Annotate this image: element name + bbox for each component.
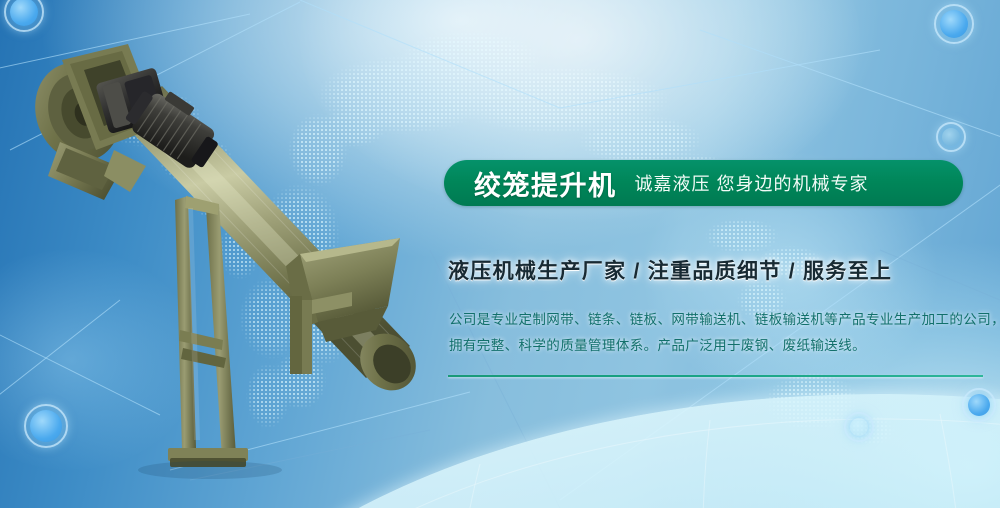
ring-marker-left-mid	[24, 404, 68, 448]
promo-banner: 绞笼提升机 诚嘉液压 您身边的机械专家 液压机械生产厂家 / 注重品质细节 / …	[0, 0, 1000, 508]
description-line-1: 公司是专业定制网带、链条、链板、网带输送机、链板输送机等产品专业生产加工的公司，	[449, 307, 989, 333]
globe-grid-lines	[150, 394, 1000, 508]
ring-marker-globe	[844, 412, 874, 442]
banner-slogan: 液压机械生产厂家 / 注重品质细节 / 服务至上	[448, 255, 989, 285]
banner-title: 绞笼提升机	[474, 164, 617, 203]
ring-marker-top-left	[4, 0, 44, 32]
banner-description: 公司是专业定制网带、链条、链板、网带输送机、链板输送机等产品专业生产加工的公司，…	[449, 307, 989, 359]
ring-marker-top-right	[934, 4, 974, 44]
description-line-2: 拥有完整、科学的质量管理体系。产品广泛用于废钢、废纸输送线。	[449, 333, 989, 359]
product-image-screw-conveyor	[0, 0, 430, 480]
content-divider	[448, 375, 983, 377]
ring-marker-bottom-right	[962, 388, 996, 422]
ring-marker-map-left	[224, 188, 246, 210]
banner-text-block: 绞笼提升机 诚嘉液压 您身边的机械专家 液压机械生产厂家 / 注重品质细节 / …	[444, 160, 989, 377]
banner-tagline: 诚嘉液压 您身边的机械专家	[635, 170, 869, 196]
globe-arc	[150, 394, 1000, 508]
ring-marker-upper-right	[936, 122, 966, 152]
title-pill: 绞笼提升机 诚嘉液压 您身边的机械专家	[444, 160, 963, 206]
